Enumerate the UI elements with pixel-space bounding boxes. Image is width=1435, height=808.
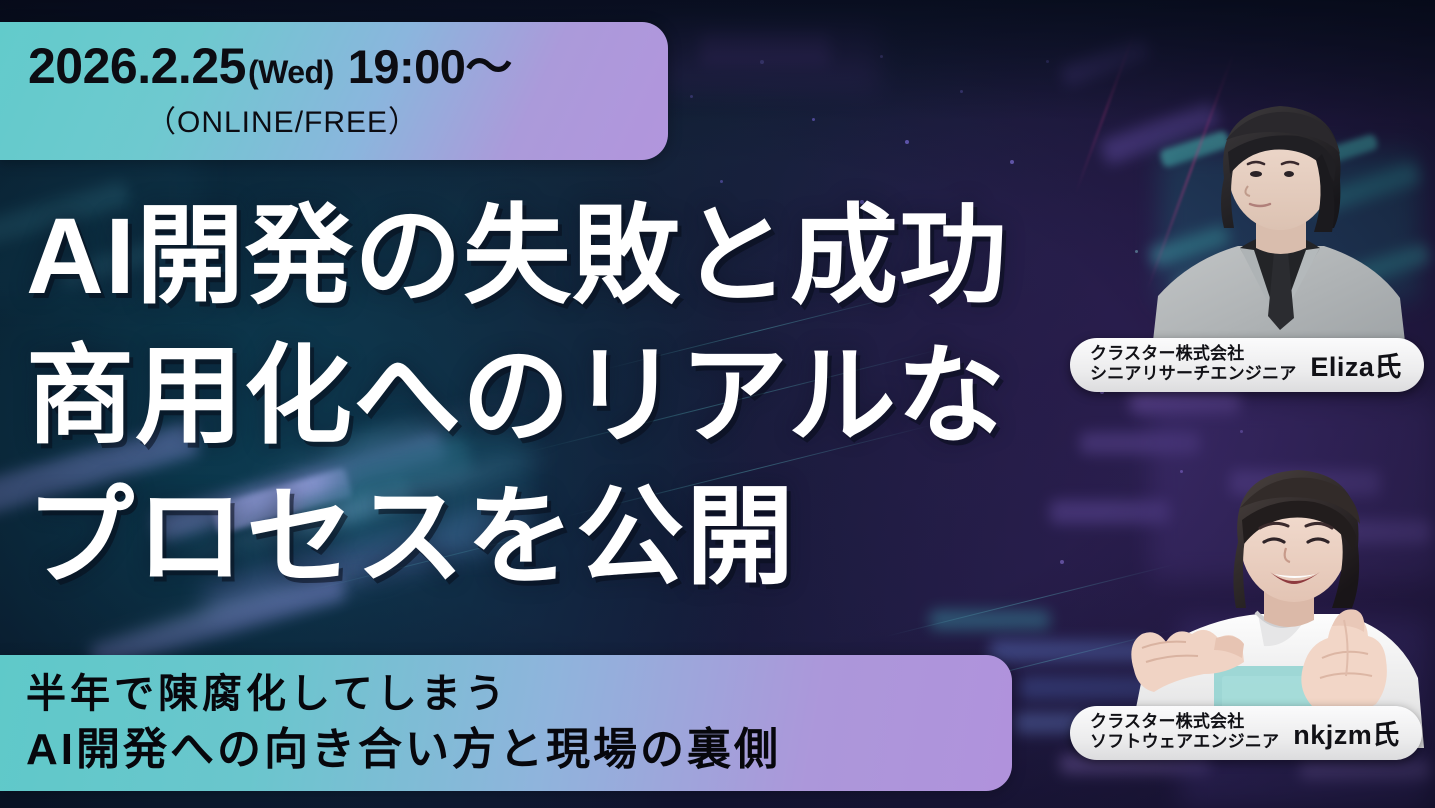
speaker-2-role: ソフトウェアエンジニア bbox=[1090, 732, 1279, 752]
date-badge-primary-row: 2026.2.25 (Wed) 19:00〜 bbox=[28, 41, 642, 91]
subtitle-line-1: 半年で陳腐化してしまう bbox=[26, 670, 982, 719]
speaker-1-org: クラスター株式会社 シニアリサーチエンジニア bbox=[1090, 344, 1296, 384]
title-line-3: プロセスを公開 bbox=[26, 467, 1056, 607]
speaker-nameplate-2: クラスター株式会社 ソフトウェアエンジニア nkjzm氏 bbox=[1070, 706, 1422, 760]
speaker-photo-2 bbox=[1118, 448, 1430, 748]
subtitle-band: 半年で陳腐化してしまう AI開発への向き合い方と現場の裏側 bbox=[0, 655, 1012, 791]
title-line-1: AI開発の失敗と成功 bbox=[26, 186, 1056, 326]
event-banner: 2026.2.25 (Wed) 19:00〜 （ONLINE/FREE） AI開… bbox=[0, 0, 1435, 808]
event-weekday: (Wed) bbox=[248, 56, 334, 88]
speaker-1-role: シニアリサーチエンジニア bbox=[1090, 364, 1296, 384]
event-date: 2026.2.25 bbox=[28, 41, 246, 91]
speaker-1-name: Eliza氏 bbox=[1310, 345, 1402, 384]
date-badge: 2026.2.25 (Wed) 19:00〜 （ONLINE/FREE） bbox=[0, 22, 668, 160]
subtitle-line-2: AI開発への向き合い方と現場の裏側 bbox=[26, 723, 982, 777]
speaker-photo-1 bbox=[1128, 82, 1428, 368]
speaker-2-company: クラスター株式会社 bbox=[1090, 712, 1279, 732]
title-line-2: 商用化へのリアルな bbox=[26, 326, 1056, 466]
event-mode: （ONLINE/FREE） bbox=[28, 97, 642, 141]
speaker-2-org: クラスター株式会社 ソフトウェアエンジニア bbox=[1090, 712, 1279, 752]
page-title: AI開発の失敗と成功 商用化へのリアルな プロセスを公開 bbox=[26, 186, 1056, 607]
speaker-1-company: クラスター株式会社 bbox=[1090, 344, 1296, 364]
event-time: 19:00〜 bbox=[348, 43, 512, 90]
speaker-2-name: nkjzm氏 bbox=[1293, 713, 1400, 752]
speaker-nameplate-1: クラスター株式会社 シニアリサーチエンジニア Eliza氏 bbox=[1070, 338, 1424, 392]
